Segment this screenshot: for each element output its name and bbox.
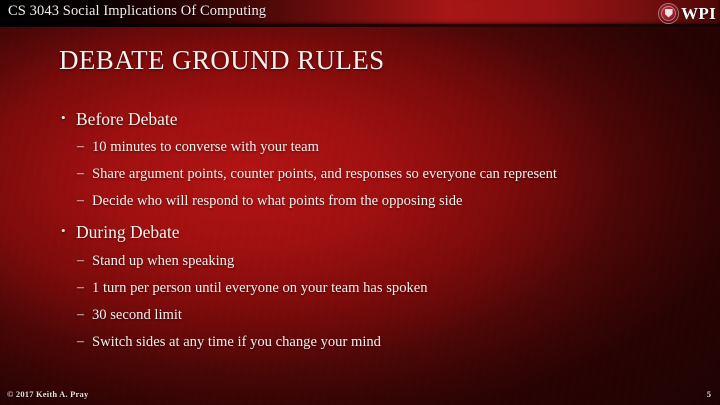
bullet-level2: – Decide who will respond to what points… xyxy=(58,192,670,211)
bullet-dash-icon: – xyxy=(77,306,84,324)
bullet-level1: • Before Debate xyxy=(58,108,670,130)
slide-canvas: CS 3043 Social Implications Of Computing… xyxy=(0,0,720,405)
bullet-level2: – Share argument points, counter points,… xyxy=(58,165,670,184)
copyright-notice: © 2017 Keith A. Pray xyxy=(7,389,88,399)
bullet-dash-icon: – xyxy=(77,165,84,183)
bullet-dash-icon: – xyxy=(77,333,84,351)
bullet-dot-icon: • xyxy=(61,108,66,129)
bullet-level1: • During Debate xyxy=(58,221,670,243)
bullet-level1-label: During Debate xyxy=(76,222,180,242)
bullet-level2-label: 30 second limit xyxy=(92,306,670,325)
bullet-level2-label: 10 minutes to converse with your team xyxy=(92,138,670,157)
bullet-level2-label: Decide who will respond to what points f… xyxy=(92,192,670,211)
bullet-level2-label: Switch sides at any time if you change y… xyxy=(92,333,670,352)
bullet-dash-icon: – xyxy=(77,252,84,270)
bullet-level2: – Switch sides at any time if you change… xyxy=(58,333,670,352)
bullet-dash-icon: – xyxy=(77,192,84,210)
bullet-level2: – Stand up when speaking xyxy=(58,252,670,271)
wpi-logo: WPI xyxy=(659,1,716,25)
bullet-level1-label: Before Debate xyxy=(76,109,178,129)
bullet-level2-label: Share argument points, counter points, a… xyxy=(92,165,670,184)
bullet-level2: – 30 second limit xyxy=(58,306,670,325)
page-title: DEBATE GROUND RULES xyxy=(59,45,385,76)
bullet-dash-icon: – xyxy=(77,279,84,297)
slide-body: • Before Debate – 10 minutes to converse… xyxy=(58,108,670,352)
wpi-logo-text: WPI xyxy=(681,5,716,22)
bullet-dot-icon: • xyxy=(61,221,66,242)
bullet-level2-label: Stand up when speaking xyxy=(92,252,670,271)
bullet-level2: – 1 turn per person until everyone on yo… xyxy=(58,279,670,298)
bullet-dash-icon: – xyxy=(77,138,84,156)
bullet-level2: – 10 minutes to converse with your team xyxy=(58,138,670,157)
slide-page-number: 5 xyxy=(707,389,711,399)
header-underline xyxy=(0,24,720,27)
wpi-seal-icon xyxy=(659,4,678,23)
course-title: CS 3043 Social Implications Of Computing xyxy=(8,3,266,20)
bullet-level2-label: 1 turn per person until everyone on your… xyxy=(92,279,670,298)
